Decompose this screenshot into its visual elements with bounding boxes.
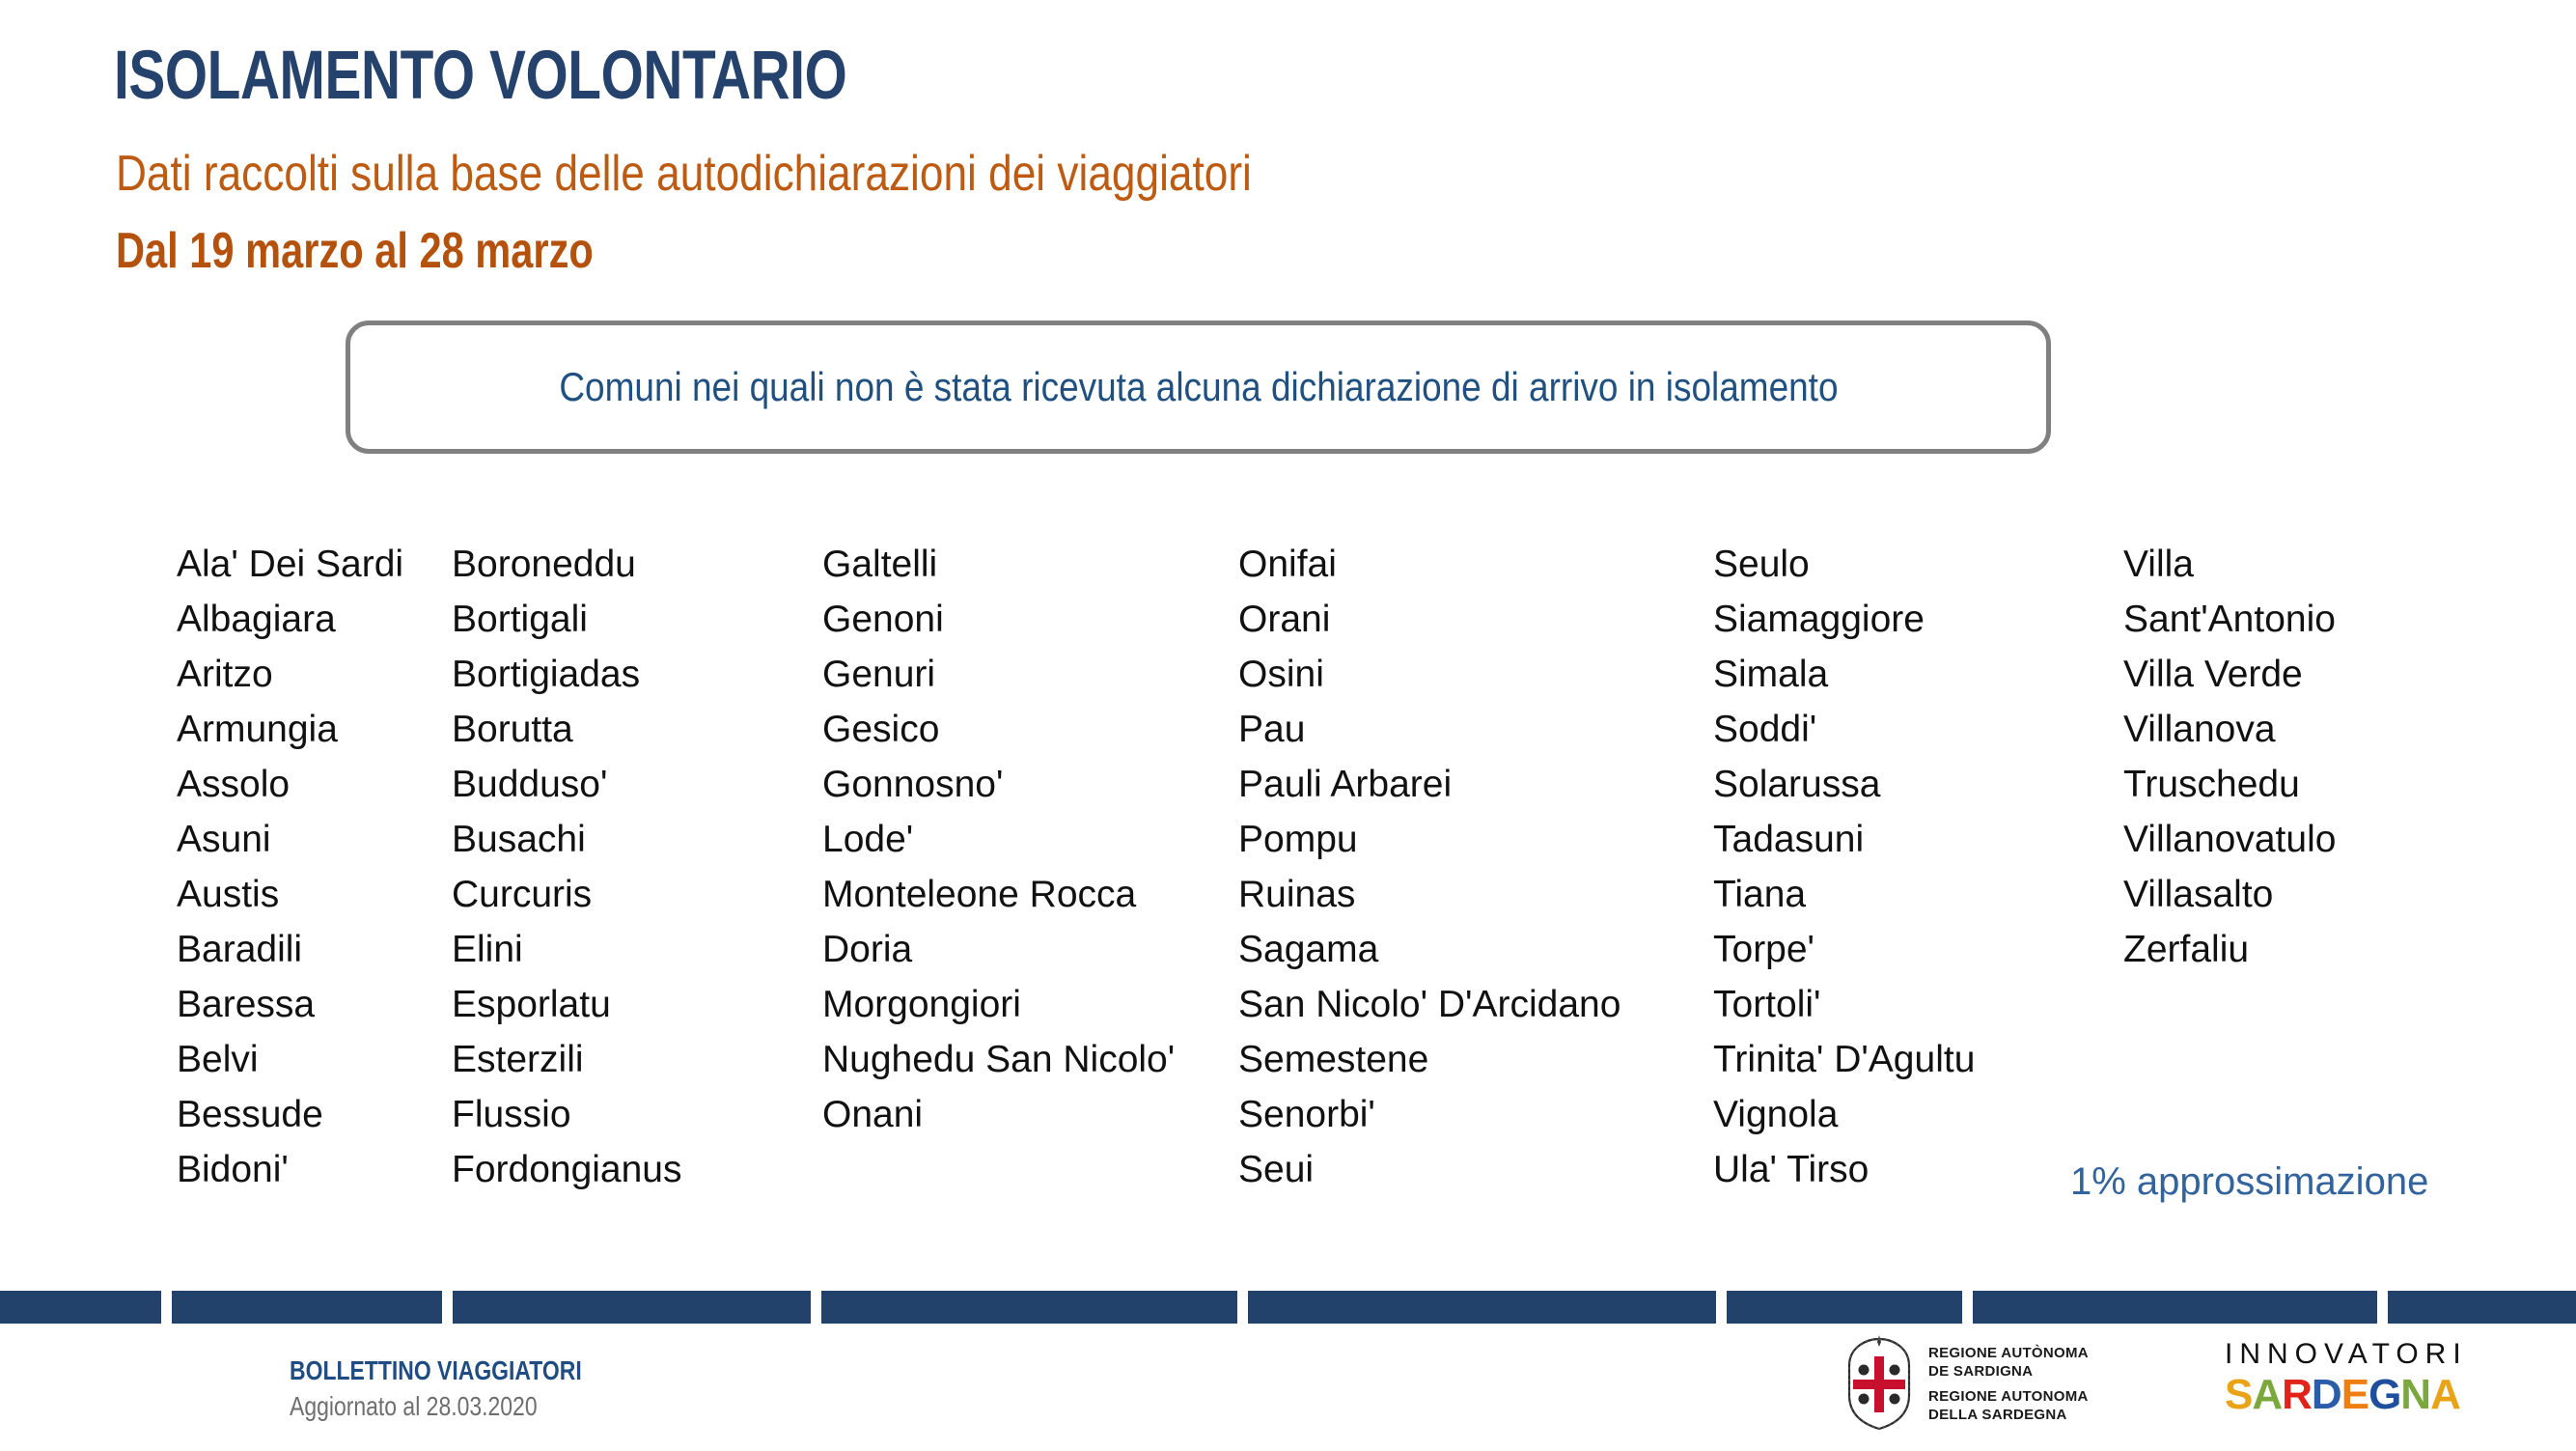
sardegna-letter: N: [2400, 1373, 2430, 1417]
list-item: Budduso': [452, 757, 682, 812]
list-item: Monteleone Rocca: [822, 867, 1175, 922]
municipality-list-grid: Ala' Dei SardiAlbagiaraAritzoArmungiaAss…: [0, 537, 2576, 1174]
list-item: Lode': [822, 812, 1175, 867]
innovatori-wordmark: INNOVATORI: [2225, 1338, 2543, 1371]
list-item: Bortigiadas: [452, 647, 682, 702]
callout-box: Comuni nei quali non è stata ricevuta al…: [346, 321, 2051, 454]
list-item: Genoni: [822, 592, 1175, 647]
list-item: Pau: [1238, 702, 1620, 757]
list-item: Simala: [1713, 647, 1975, 702]
list-item: San Nicolo' D'Arcidano: [1238, 977, 1620, 1032]
list-item: Villa Verde: [2123, 647, 2336, 702]
list-item: Pompu: [1238, 812, 1620, 867]
ras-line-3: REGIONE AUTONOMA: [1928, 1387, 2089, 1406]
list-item: Assolo: [177, 757, 403, 812]
list-item: Fordongianus: [452, 1142, 682, 1197]
list-item: Villasalto: [2123, 867, 2336, 922]
list-item: Truschedu: [2123, 757, 2336, 812]
list-item: Ala' Dei Sardi: [177, 537, 403, 592]
ras-line-4: DELLA SARDEGNA: [1928, 1406, 2089, 1424]
list-item: Boroneddu: [452, 537, 682, 592]
footer-bulletin-title: BOLLETTINO VIAGGIATORI: [290, 1355, 582, 1386]
list-item: Orani: [1238, 592, 1620, 647]
innovatori-sardegna-logo: INNOVATORI SARDEGNA: [2225, 1338, 2543, 1435]
list-item: Esterzili: [452, 1032, 682, 1087]
list-item: Ula' Tirso: [1713, 1142, 1975, 1197]
footer-bar-segment: [1248, 1291, 1716, 1324]
callout-text: Comuni nei quali non è stata ricevuta al…: [559, 364, 1838, 410]
list-item: Senorbi': [1238, 1087, 1620, 1142]
list-item: Belvi: [177, 1032, 403, 1087]
sardegna-letter: D: [2312, 1373, 2341, 1417]
list-item: Esporlatu: [452, 977, 682, 1032]
list-item: Curcuris: [452, 867, 682, 922]
list-item: Siamaggiore: [1713, 592, 1975, 647]
list-item: Onifai: [1238, 537, 1620, 592]
list-item: Nughedu San Nicolo': [822, 1032, 1175, 1087]
sardegna-letter: E: [2341, 1373, 2368, 1417]
list-item: Tadasuni: [1713, 812, 1975, 867]
list-item: Baressa: [177, 977, 403, 1032]
list-item: Semestene: [1238, 1032, 1620, 1087]
list-item: Trinita' D'Agultu: [1713, 1032, 1975, 1087]
footer-bar-segment: [1727, 1291, 1962, 1324]
list-item: Armungia: [177, 702, 403, 757]
list-item: Seulo: [1713, 537, 1975, 592]
list-item: Busachi: [452, 812, 682, 867]
list-item: Villanovatulo: [2123, 812, 2336, 867]
footer-bar-segment: [1973, 1291, 2377, 1324]
sardegna-wordmark: SARDEGNA: [2225, 1373, 2543, 1417]
list-item: Villa: [2123, 537, 2336, 592]
list-item: Elini: [452, 922, 682, 977]
regione-sardegna-logo: REGIONE AUTÒNOMA DE SARDIGNA REGIONE AUT…: [1842, 1330, 2189, 1437]
list-item: Villanova: [2123, 702, 2336, 757]
list-item: Onani: [822, 1087, 1175, 1142]
list-item: Pauli Arbarei: [1238, 757, 1620, 812]
list-column-1: Ala' Dei SardiAlbagiaraAritzoArmungiaAss…: [177, 537, 403, 1197]
list-item: Baradili: [177, 922, 403, 977]
slide-root: ISOLAMENTO VOLONTARIO Dati raccolti sull…: [0, 0, 2576, 1451]
ras-line-2: DE SARDIGNA: [1928, 1362, 2089, 1381]
list-item: Bessude: [177, 1087, 403, 1142]
list-column-5: SeuloSiamaggioreSimalaSoddi'SolarussaTad…: [1713, 537, 1975, 1197]
list-column-3: GaltelliGenoniGenuriGesicoGonnosno'Lode'…: [822, 537, 1175, 1142]
list-item: Borutta: [452, 702, 682, 757]
date-range-label: Dal 19 marzo al 28 marzo: [116, 222, 594, 280]
list-item: Sagama: [1238, 922, 1620, 977]
page-subtitle: Dati raccolti sulla base delle autodichi…: [116, 145, 1252, 203]
list-item: Tiana: [1713, 867, 1975, 922]
regione-sardegna-logo-text: REGIONE AUTÒNOMA DE SARDIGNA REGIONE AUT…: [1928, 1344, 2089, 1424]
list-item: Bortigali: [452, 592, 682, 647]
list-item: Solarussa: [1713, 757, 1975, 812]
sardegna-letter: A: [2252, 1373, 2282, 1417]
approximation-note: 1% approssimazione: [2070, 1160, 2428, 1204]
list-item: Gonnosno': [822, 757, 1175, 812]
list-item: Soddi': [1713, 702, 1975, 757]
sardegna-letter: R: [2282, 1373, 2312, 1417]
list-column-6: VillaSant'AntonioVilla VerdeVillanovaTru…: [2123, 537, 2336, 977]
list-item: Zerfaliu: [2123, 922, 2336, 977]
list-item: Morgongiori: [822, 977, 1175, 1032]
list-item: Galtelli: [822, 537, 1175, 592]
list-column-2: BoronedduBortigaliBortigiadasBoruttaBudd…: [452, 537, 682, 1197]
list-item: Gesico: [822, 702, 1175, 757]
footer-bar-segment: [0, 1291, 161, 1324]
sardegna-letter: S: [2225, 1373, 2252, 1417]
list-item: Bidoni': [177, 1142, 403, 1197]
footer-bar-segment: [453, 1291, 812, 1324]
list-item: Sant'Antonio: [2123, 592, 2336, 647]
list-item: Doria: [822, 922, 1175, 977]
footer-updated-date: Aggiornato al 28.03.2020: [290, 1391, 538, 1422]
list-item: Ruinas: [1238, 867, 1620, 922]
footer-bar-segment: [2388, 1291, 2576, 1324]
list-item: Genuri: [822, 647, 1175, 702]
list-item: Torpe': [1713, 922, 1975, 977]
list-item: Tortoli': [1713, 977, 1975, 1032]
list-item: Austis: [177, 867, 403, 922]
sardegna-letter: G: [2368, 1373, 2400, 1417]
page-title: ISOLAMENTO VOLONTARIO: [114, 37, 846, 115]
list-item: Aritzo: [177, 647, 403, 702]
list-item: Seui: [1238, 1142, 1620, 1197]
footer-bar-segment: [821, 1291, 1237, 1324]
sardinia-shield-icon: [1842, 1335, 1917, 1432]
footer-bar-segment: [172, 1291, 441, 1324]
footer-bar: [0, 1291, 2576, 1324]
ras-line-1: REGIONE AUTÒNOMA: [1928, 1344, 2089, 1362]
list-item: Osini: [1238, 647, 1620, 702]
list-item: Flussio: [452, 1087, 682, 1142]
list-item: Vignola: [1713, 1087, 1975, 1142]
list-item: Albagiara: [177, 592, 403, 647]
sardegna-letter: A: [2430, 1373, 2460, 1417]
list-item: Asuni: [177, 812, 403, 867]
list-column-4: OnifaiOraniOsiniPauPauli ArbareiPompuRui…: [1238, 537, 1620, 1197]
